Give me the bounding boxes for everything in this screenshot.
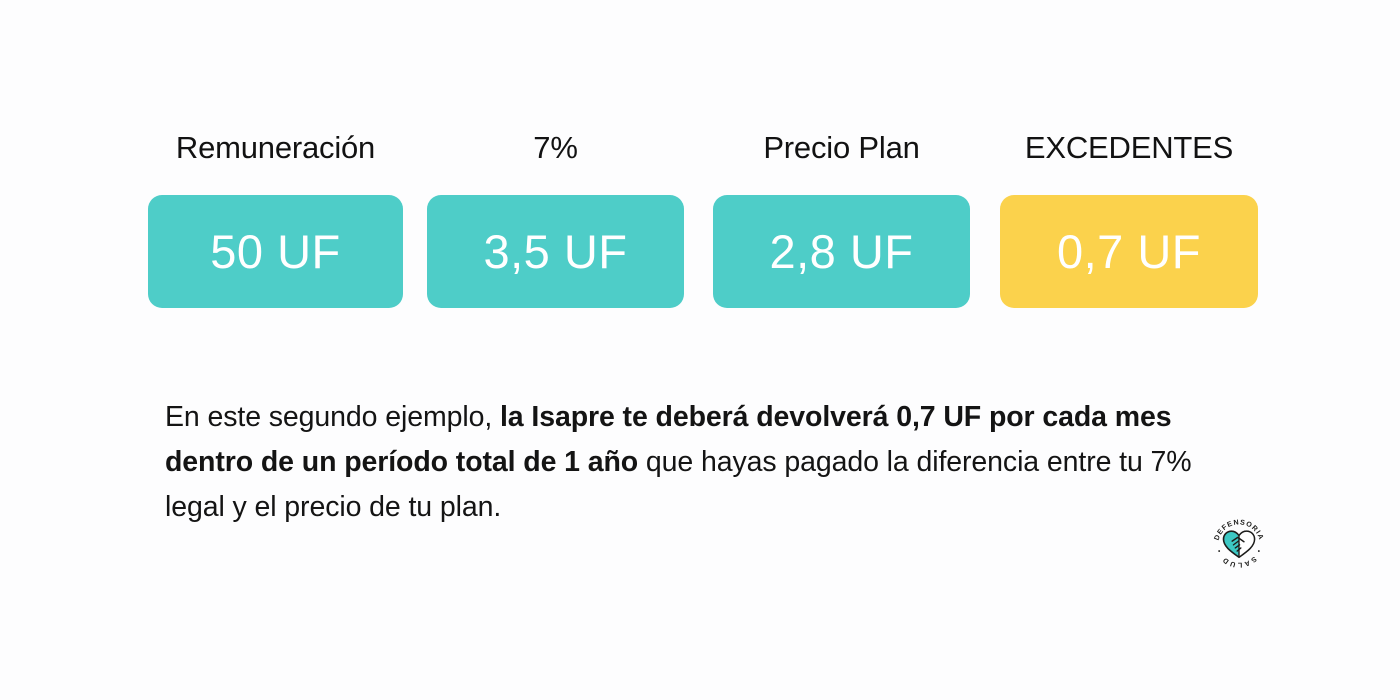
value-card-amount: 0,7 UF (1057, 228, 1201, 275)
defensoria-salud-logo: DEFENSORIA SALUD (1208, 512, 1270, 574)
slide-canvas: Remuneración 7% Precio Plan EXCEDENTES 5… (0, 0, 1400, 700)
value-card-amount: 3,5 UF (483, 228, 627, 275)
value-card-precio-plan: 2,8 UF (713, 195, 970, 308)
column-label-excedentes: EXCEDENTES (1000, 126, 1258, 170)
logo-dot-left (1218, 550, 1220, 552)
explanation-paragraph: En este segundo ejemplo, la Isapre te de… (165, 395, 1225, 530)
column-label-row: Remuneración 7% Precio Plan EXCEDENTES (148, 126, 1258, 170)
value-card-7-percent: 3,5 UF (427, 195, 684, 308)
value-card-remuneracion: 50 UF (148, 195, 403, 308)
logo-dot-right (1258, 550, 1260, 552)
paragraph-text: En este segundo ejemplo, (165, 401, 500, 433)
column-label-precio-plan: Precio Plan (713, 126, 970, 170)
value-card-row: 50 UF 3,5 UF 2,8 UF 0,7 UF (148, 195, 1258, 308)
column-label-remuneracion: Remuneración (148, 126, 403, 170)
value-card-excedentes: 0,7 UF (1000, 195, 1258, 308)
value-card-amount: 50 UF (210, 228, 341, 275)
column-label-7-percent: 7% (427, 126, 684, 170)
value-card-amount: 2,8 UF (769, 228, 913, 275)
heart-handshake-icon (1224, 531, 1255, 557)
